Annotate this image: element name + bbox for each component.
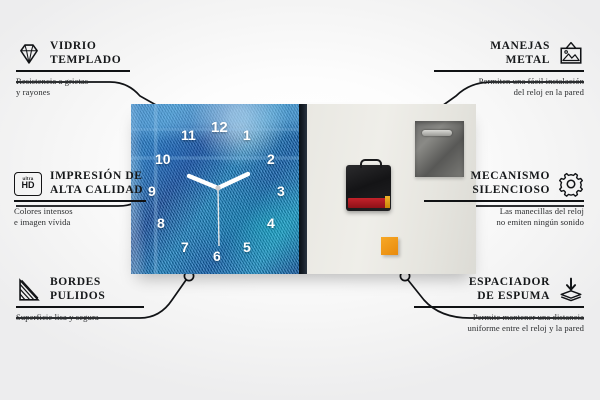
ultra-hd-large-label: HD — [22, 181, 35, 190]
callout-title-line2: ALTA CALIDAD — [50, 184, 143, 198]
ultra-hd-icon: ultra HD — [14, 172, 42, 196]
gear-icon — [558, 171, 584, 197]
callout-sub-line2: e imagen vívida — [14, 217, 174, 229]
callout-title-line1: ESPACIADOR — [469, 276, 550, 290]
callout-header: BORDES PULIDOS — [16, 276, 176, 303]
callout-sub-line1: Colores intensos — [14, 206, 174, 218]
callout-title-line1: VIDRIO — [50, 40, 121, 54]
callout-sub-line2: uniforme entre el reloj y la pared — [414, 323, 584, 335]
callout-header: MANEJAS METAL — [434, 40, 584, 67]
callout-header: ultra HD IMPRESIÓN DE ALTA CALIDAD — [14, 170, 174, 197]
callout-espaciador-de-espuma[interactable]: ESPACIADOR DE ESPUMA Permite mantener un… — [414, 276, 584, 335]
callout-sub-line1: Permite mantener una distancia — [414, 312, 584, 324]
metal-hanger-plate — [415, 121, 464, 177]
callout-sub-line2: no emiten ningún sonido — [424, 217, 584, 229]
callout-title-line2: PULIDOS — [50, 290, 105, 304]
foam-spacer — [381, 237, 398, 256]
callout-rule — [16, 70, 130, 72]
callout-sub-line1: Resistencia a grietas — [16, 76, 166, 88]
callout-vidrio-templado[interactable]: VIDRIO TEMPLADO Resistencia a grietas y … — [16, 40, 166, 99]
battery-terminal — [385, 196, 390, 208]
callout-rule — [434, 70, 584, 72]
picture-frame-icon — [558, 41, 584, 67]
callout-title-line1: BORDES — [50, 276, 105, 290]
callout-mecanismo-silencioso[interactable]: MECANISMO SILENCIOSO Las manecillas del … — [424, 170, 584, 229]
callout-rule — [16, 306, 144, 308]
foam-spacer-icon — [558, 277, 584, 303]
clock-mechanism — [346, 165, 392, 211]
callout-title-line1: IMPRESIÓN DE — [50, 170, 143, 184]
callout-title-line1: MECANISMO — [470, 170, 550, 184]
callout-bordes-pulidos[interactable]: BORDES PULIDOS Superficie lisa y segura — [16, 276, 176, 323]
callout-sub-line1: Permiten una fácil instalación — [434, 76, 584, 88]
callout-sub-line1: Las manecillas del reloj — [424, 206, 584, 218]
mechanism-hook — [360, 159, 382, 168]
callout-rule — [14, 200, 146, 202]
callout-title-line2: SILENCIOSO — [470, 184, 550, 198]
callout-title-line2: METAL — [490, 54, 550, 68]
panel-side-edge — [299, 104, 307, 274]
callout-sub-line1: Superficie lisa y segura — [16, 312, 176, 324]
hanger-slot — [422, 130, 452, 136]
diamond-icon — [16, 41, 42, 67]
polished-edge-icon — [16, 277, 42, 303]
callout-title-line1: MANEJAS — [490, 40, 550, 54]
callout-header: VIDRIO TEMPLADO — [16, 40, 166, 67]
callout-header: ESPACIADOR DE ESPUMA — [414, 276, 584, 303]
battery — [348, 198, 389, 208]
infographic-canvas: 12 1 2 3 4 5 6 7 8 9 10 11 — [0, 0, 600, 400]
callout-sub-line2: y rayones — [16, 87, 166, 99]
callout-manejas-metal[interactable]: MANEJAS METAL Permiten una fácil instala… — [434, 40, 584, 99]
callout-header: MECANISMO SILENCIOSO — [424, 170, 584, 197]
callout-impresion-alta-calidad[interactable]: ultra HD IMPRESIÓN DE ALTA CALIDAD Color… — [14, 170, 174, 229]
callout-rule — [414, 306, 584, 308]
callout-title-line2: TEMPLADO — [50, 54, 121, 68]
callout-title-line2: DE ESPUMA — [469, 290, 550, 304]
callout-rule — [424, 200, 584, 202]
callout-sub-line2: del reloj en la pared — [434, 87, 584, 99]
